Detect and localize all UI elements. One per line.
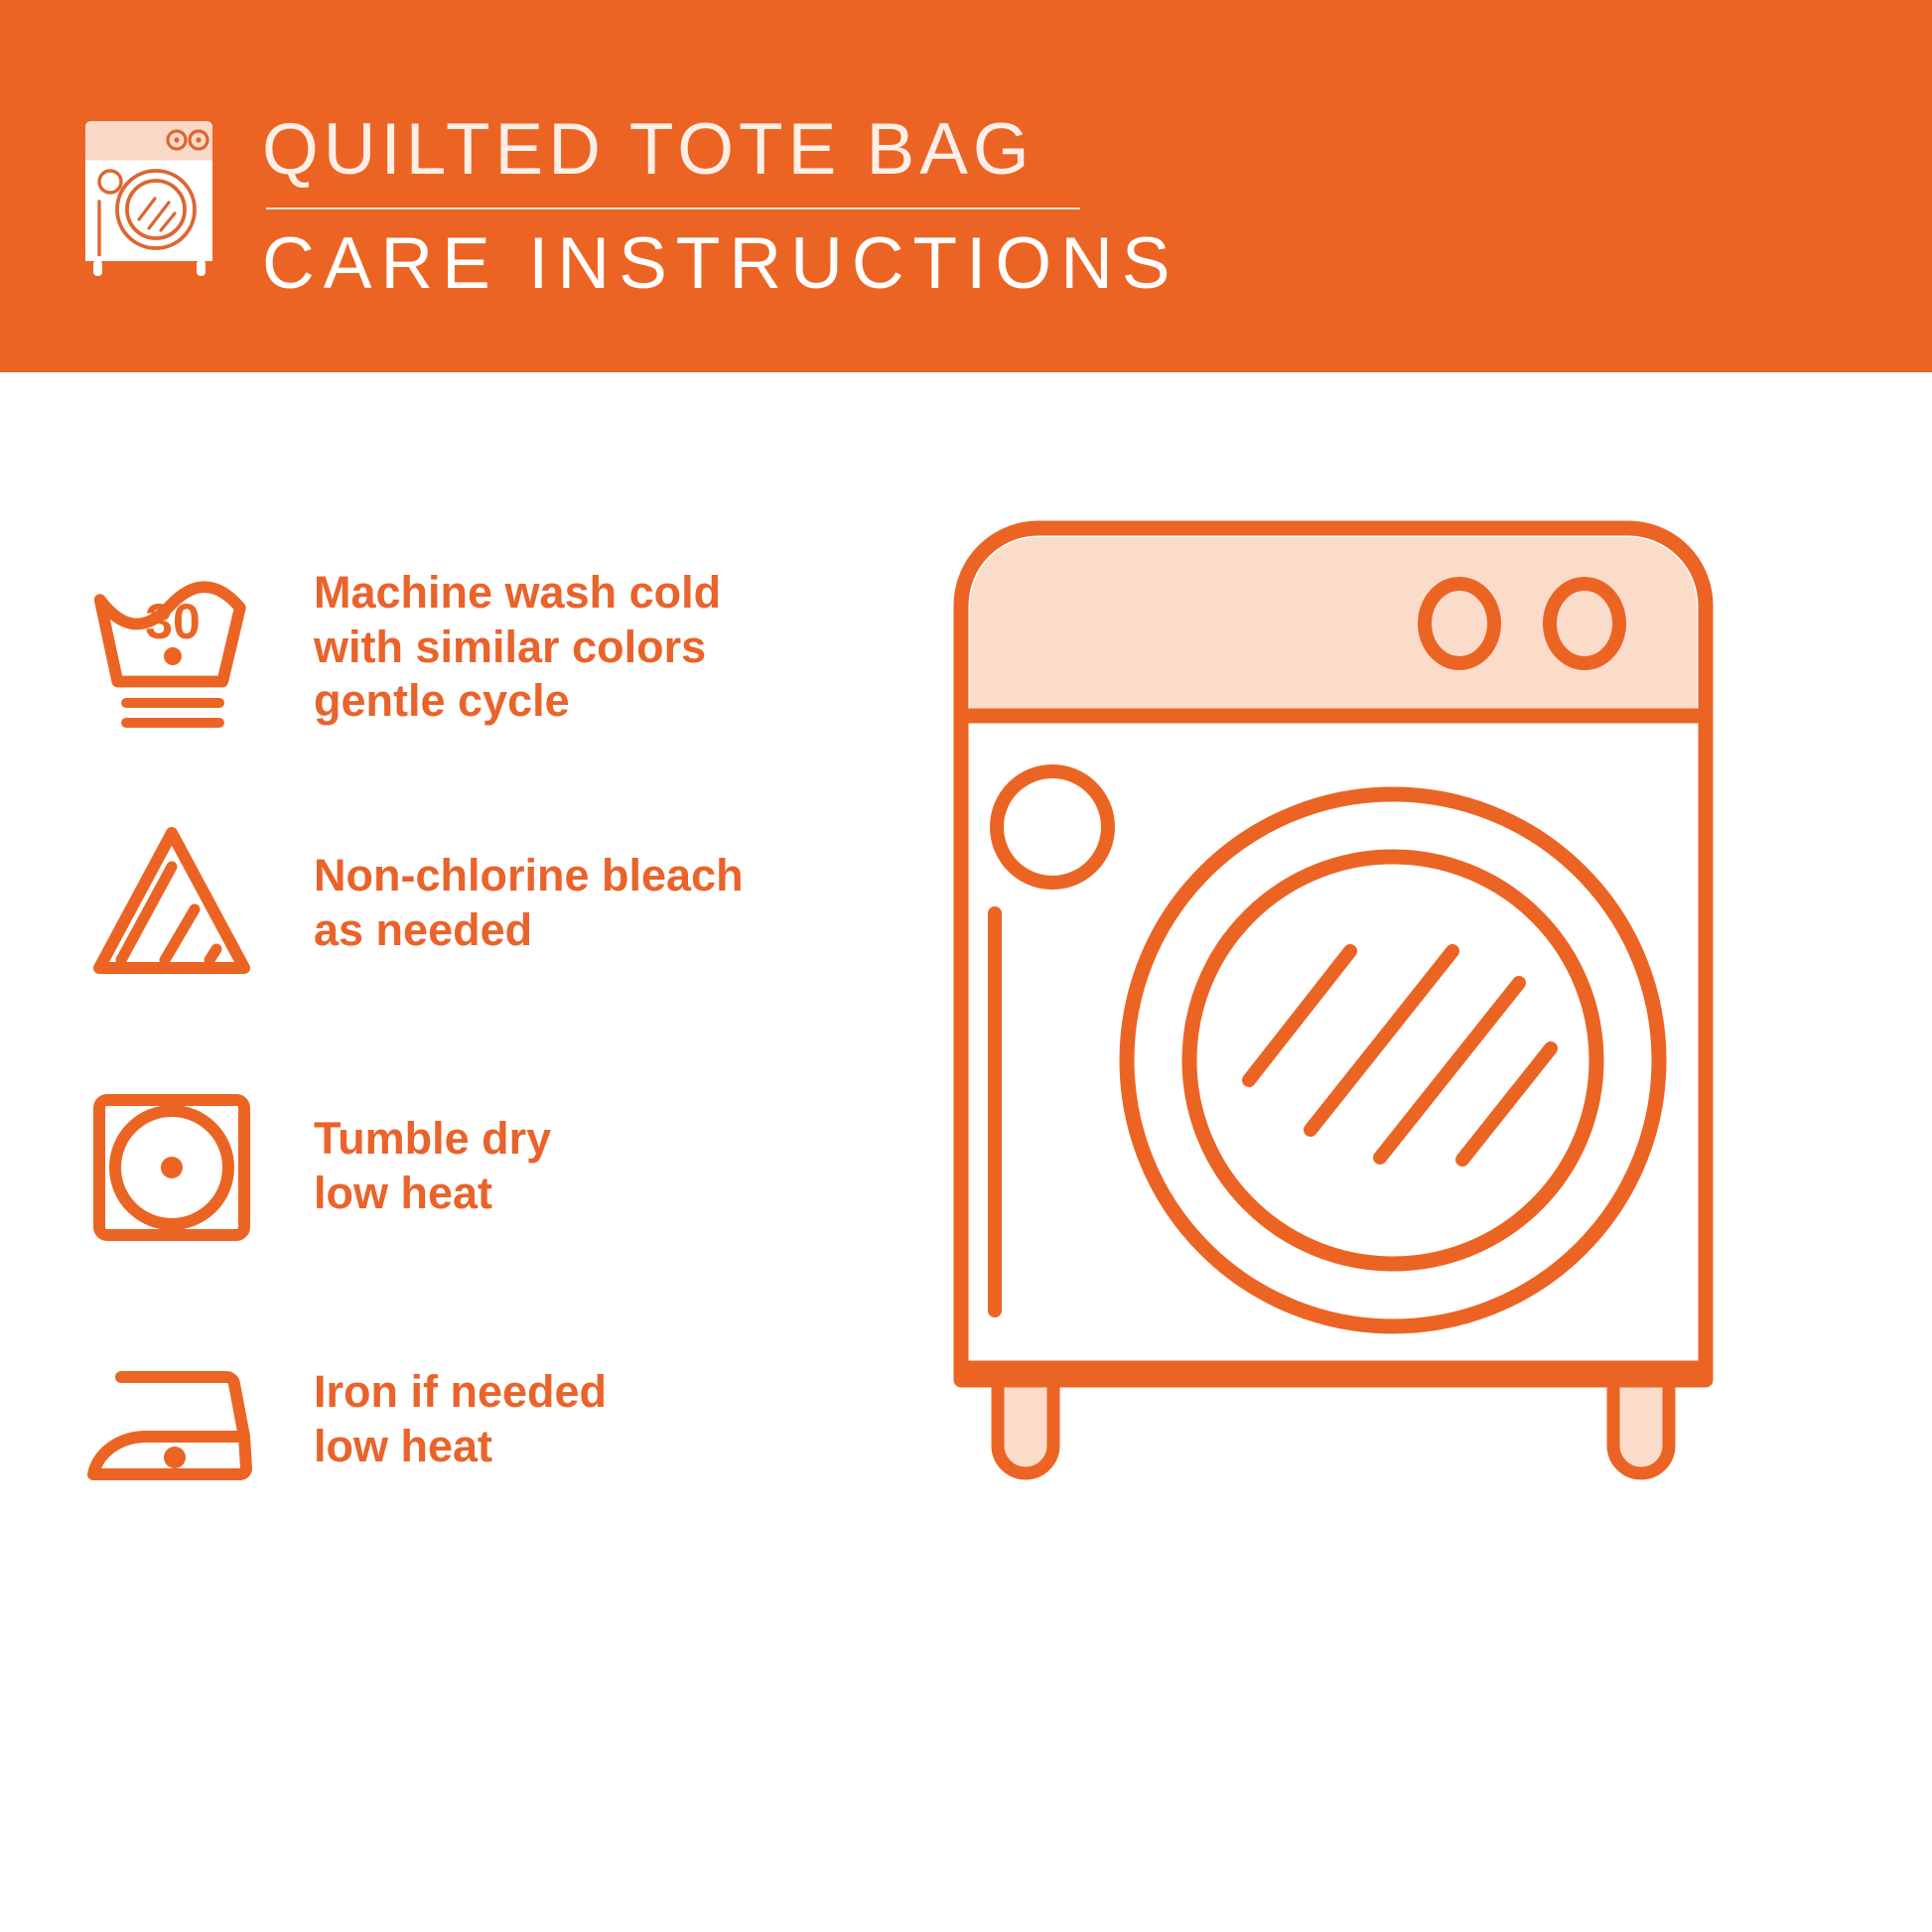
care-label-line: as needed [314,903,744,958]
care-label-line: with similar colors [314,621,721,675]
page-title: QUILTED TOTE BAG [262,113,1179,186]
machine-wash-tub-icon: 30 [77,553,266,742]
title-divider [266,207,1080,209]
care-label-line: Tumble dry [314,1112,551,1167]
tumble-dry-heat-dot [161,1157,183,1178]
machine-control-panel [970,537,1697,715]
care-label-line: low heat [314,1420,607,1474]
tumble-dry-square-icon [77,1072,266,1261]
wash-temperature-value: 30 [145,594,201,649]
gentle-cycle-bar-1 [121,698,224,708]
header-banner: QUILTED TOTE BAG CARE INSTRUCTIONS [0,0,1932,372]
iron-icon [77,1325,266,1514]
care-label-iron: Iron if needed low heat [314,1365,607,1474]
care-label-line: Machine wash cold [314,566,721,621]
wash-heat-dot [164,647,182,665]
washing-machine-illustration [953,496,1876,1489]
page-subtitle: CARE INSTRUCTIONS [262,227,1179,300]
header-content: QUILTED TOTE BAG CARE INSTRUCTIONS [71,107,1179,300]
gentle-cycle-bar-2 [121,718,224,728]
care-row-tumble-dry: Tumble dry low heat [77,1072,892,1261]
care-label-machine-wash: Machine wash cold with similar colors ge… [314,566,721,730]
care-row-bleach: Non-chlorine bleach as needed [77,809,892,998]
care-label-line: low heat [314,1167,551,1221]
care-label-bleach: Non-chlorine bleach as needed [314,849,744,958]
care-instruction-list: 30 Machine wash cold with similar colors… [0,372,953,1932]
care-label-line: Iron if needed [314,1365,607,1420]
care-label-tumble-dry: Tumble dry low heat [314,1112,551,1221]
care-label-line: Non-chlorine bleach [314,849,744,903]
care-row-machine-wash: 30 Machine wash cold with similar colors… [77,553,892,742]
care-label-line: gentle cycle [314,674,721,729]
iron-heat-dot [164,1447,186,1468]
care-row-iron: Iron if needed low heat [77,1325,892,1514]
title-block: QUILTED TOTE BAG CARE INSTRUCTIONS [262,107,1179,300]
non-chlorine-bleach-triangle-icon [77,809,266,998]
washing-machine-icon [71,107,238,284]
